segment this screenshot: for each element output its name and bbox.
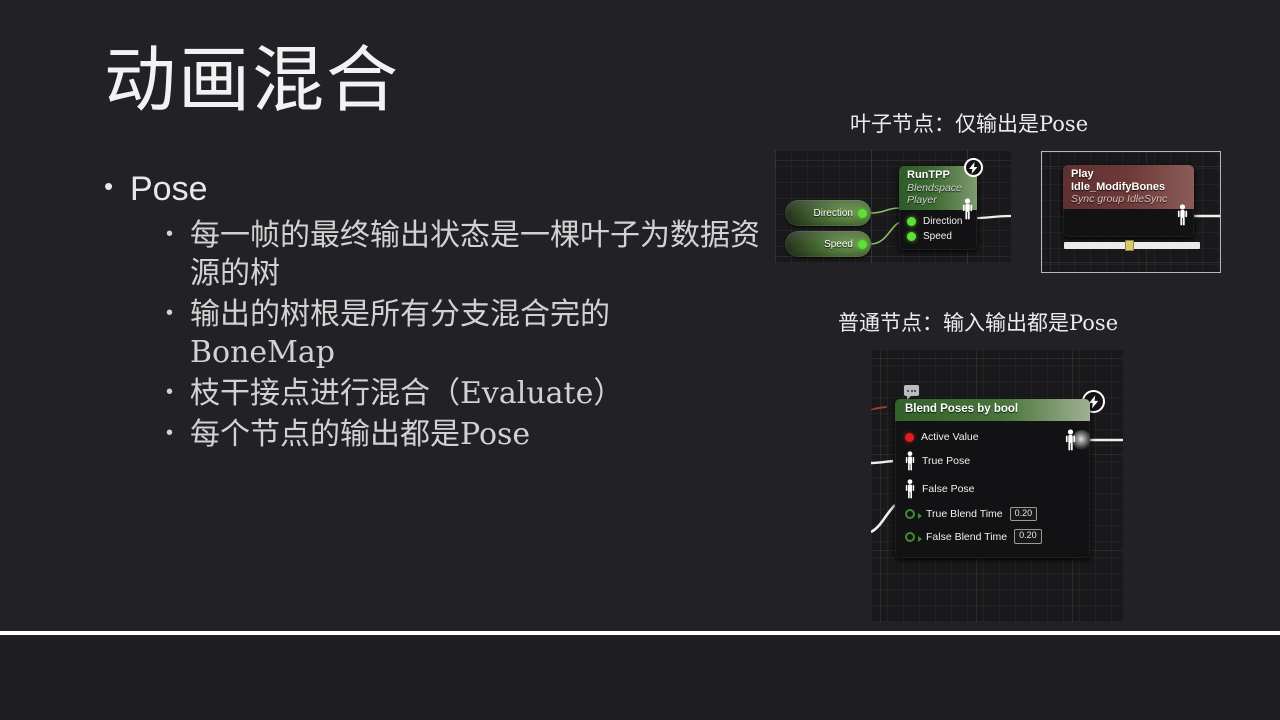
variable-node-label: Speed — [824, 239, 853, 250]
grid-major-line — [871, 358, 1123, 359]
bullet-level1-label: Pose — [130, 168, 208, 211]
node-title: RunTPP — [907, 169, 969, 182]
node-pin-active-value[interactable]: Active Value — [895, 427, 1090, 447]
variable-node-direction[interactable]: Direction — [785, 200, 871, 226]
green-ring-pin-icon[interactable] — [905, 509, 915, 519]
node-pin-label: Direction — [923, 216, 962, 227]
node-body: Active Value True Pose — [895, 421, 1090, 558]
node-pin-label: True Pose — [922, 455, 970, 467]
page-title: 动画混合 — [104, 44, 400, 116]
caption-normal-node: 普通节点：输入输出都是Pose — [838, 307, 1118, 337]
grid-major-line — [1050, 152, 1051, 272]
variable-node-label: Direction — [814, 208, 853, 219]
bolt-glyph — [1089, 395, 1099, 409]
blueprint-graph-idle: Play Idle_ModifyBones Sync group IdleSyn… — [1041, 151, 1221, 273]
bullet-dot-icon: • — [104, 168, 130, 206]
true-blend-time-input[interactable]: 0.20 — [1010, 507, 1038, 521]
green-dot-pin-icon[interactable] — [907, 232, 916, 241]
variable-node-speed[interactable]: Speed — [785, 231, 871, 257]
pose-person-pin-icon[interactable] — [962, 198, 973, 220]
list-item: • 每个节点的输出都是Pose — [166, 416, 764, 454]
false-blend-time-input[interactable]: 0.20 — [1014, 529, 1042, 543]
green-dot-pin-icon[interactable] — [858, 240, 867, 249]
bullet-dot-icon: • — [166, 375, 190, 410]
grid-major-line — [880, 349, 881, 622]
animation-scrub-track[interactable] — [1064, 242, 1200, 249]
list-item: • 每一帧的最终输出状态是一棵叶子为数据资源的树 — [166, 217, 764, 293]
blueprint-graph-runtpp: Direction Speed RunTPP Blendspace Player… — [775, 150, 1011, 263]
node-pin-label: True Blend Time — [926, 508, 1003, 520]
bullet-level2-label: 枝干接点进行混合（Evaluate） — [190, 375, 764, 413]
footer-bar: UNREAL ENGINE 52VR.COM #UOD 2017 — [0, 635, 1280, 720]
pose-person-pin-icon[interactable] — [1177, 203, 1188, 227]
node-pin-speed[interactable]: Speed — [899, 229, 977, 244]
node-pin-label: Active Value — [921, 431, 979, 443]
grid-major-line — [775, 150, 776, 263]
node-pin-label: Speed — [923, 231, 952, 242]
node-title: Play Idle_ModifyBones — [1071, 168, 1186, 193]
bullet-dot-icon: • — [166, 296, 190, 331]
node-pin-true-pose[interactable]: True Pose — [895, 447, 1090, 475]
node-pin-label: False Pose — [922, 483, 975, 495]
node-pin-false-pose[interactable]: False Pose — [895, 475, 1090, 503]
node-play-idle[interactable]: Play Idle_ModifyBones Sync group IdleSyn… — [1063, 165, 1194, 237]
comment-bubble-icon[interactable] — [904, 385, 919, 396]
bolt-glyph — [969, 162, 978, 174]
node-pin-label: False Blend Time — [926, 531, 1007, 543]
green-dot-pin-icon[interactable] — [858, 209, 867, 218]
animation-scrub-handle[interactable] — [1125, 240, 1134, 251]
blueprint-graph-blend: Blend Poses by bool Active Value — [871, 349, 1123, 622]
pose-person-pin-icon[interactable] — [905, 450, 915, 472]
node-runtpp[interactable]: RunTPP Blendspace Player Direction Speed — [899, 166, 977, 250]
bullet-dot-icon: • — [166, 217, 190, 252]
bullet-list: • Pose • 每一帧的最终输出状态是一棵叶子为数据资源的树 • 输出的树根是… — [104, 168, 764, 457]
list-item: • 输出的树根是所有分支混合完的 BoneMap — [166, 296, 764, 372]
red-dot-pin-icon[interactable] — [905, 433, 914, 442]
green-dot-pin-icon[interactable] — [907, 217, 916, 226]
node-pin-false-blend-time[interactable]: False Blend Time 0.20 — [895, 525, 1090, 547]
bullet-level1: • Pose — [104, 168, 764, 211]
grid-major-line — [1042, 262, 1220, 263]
presentation-slide: 动画混合 • Pose • 每一帧的最终输出状态是一棵叶子为数据资源的树 • 输… — [0, 0, 1280, 720]
bullet-level2-label: 每个节点的输出都是Pose — [190, 416, 764, 454]
node-header: Play Idle_ModifyBones Sync group IdleSyn… — [1063, 165, 1194, 209]
bullet-level2-label: 输出的树根是所有分支混合完的 BoneMap — [190, 296, 764, 372]
grid-major-line — [871, 150, 872, 263]
lightning-bolt-icon — [964, 158, 983, 177]
node-subtitle: Blendspace Player — [907, 182, 969, 206]
pose-person-pin-icon[interactable] — [905, 478, 915, 500]
node-pin-true-blend-time[interactable]: True Blend Time 0.20 — [895, 503, 1090, 525]
bullet-sublist: • 每一帧的最终输出状态是一棵叶子为数据资源的树 • 输出的树根是所有分支混合完… — [166, 217, 764, 455]
list-item: • 枝干接点进行混合（Evaluate） — [166, 375, 764, 413]
bullet-dot-icon: • — [166, 416, 190, 451]
node-blend-poses-by-bool[interactable]: Blend Poses by bool Active Value — [895, 399, 1090, 558]
green-ring-pin-icon[interactable] — [905, 532, 915, 542]
pose-person-pin-icon[interactable] — [1065, 428, 1076, 452]
bullet-level2-label: 每一帧的最终输出状态是一棵叶子为数据资源的树 — [190, 217, 764, 293]
caption-leaf-node: 叶子节点：仅输出是Pose — [850, 108, 1088, 138]
node-subtitle: Sync group IdleSync — [1071, 193, 1186, 205]
node-header: Blend Poses by bool — [895, 399, 1090, 421]
node-title: Blend Poses by bool — [905, 403, 1082, 416]
